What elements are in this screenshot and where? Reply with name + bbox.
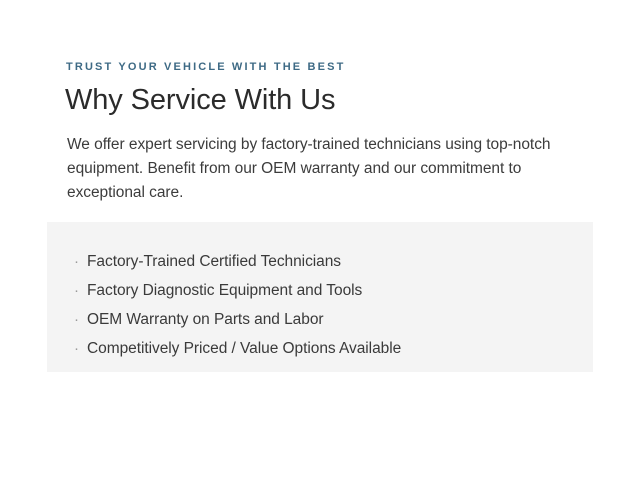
feature-list: · Factory-Trained Certified Technicians … — [47, 222, 593, 363]
page-title: Why Service With Us — [65, 82, 335, 118]
bullet-dot-icon: · — [74, 305, 84, 334]
bullet-dot-icon: · — [74, 247, 84, 276]
list-item-label: Competitively Priced / Value Options Ava… — [87, 340, 401, 357]
feature-card: · Factory-Trained Certified Technicians … — [47, 222, 593, 372]
list-item-label: Factory-Trained Certified Technicians — [87, 253, 341, 270]
list-item: · OEM Warranty on Parts and Labor — [47, 305, 593, 334]
service-benefits-slide: TRUST YOUR VEHICLE WITH THE BEST Why Ser… — [0, 0, 640, 480]
bullet-dot-icon: · — [74, 334, 84, 363]
intro-paragraph: We offer expert servicing by factory-tra… — [67, 133, 567, 206]
list-item-label: OEM Warranty on Parts and Labor — [87, 311, 324, 328]
eyebrow-kicker: TRUST YOUR VEHICLE WITH THE BEST — [66, 60, 345, 74]
list-item: · Competitively Priced / Value Options A… — [47, 334, 593, 363]
bullet-dot-icon: · — [74, 276, 84, 305]
list-item-label: Factory Diagnostic Equipment and Tools — [87, 282, 362, 299]
list-item: · Factory Diagnostic Equipment and Tools — [47, 276, 593, 305]
list-item: · Factory-Trained Certified Technicians — [47, 247, 593, 276]
